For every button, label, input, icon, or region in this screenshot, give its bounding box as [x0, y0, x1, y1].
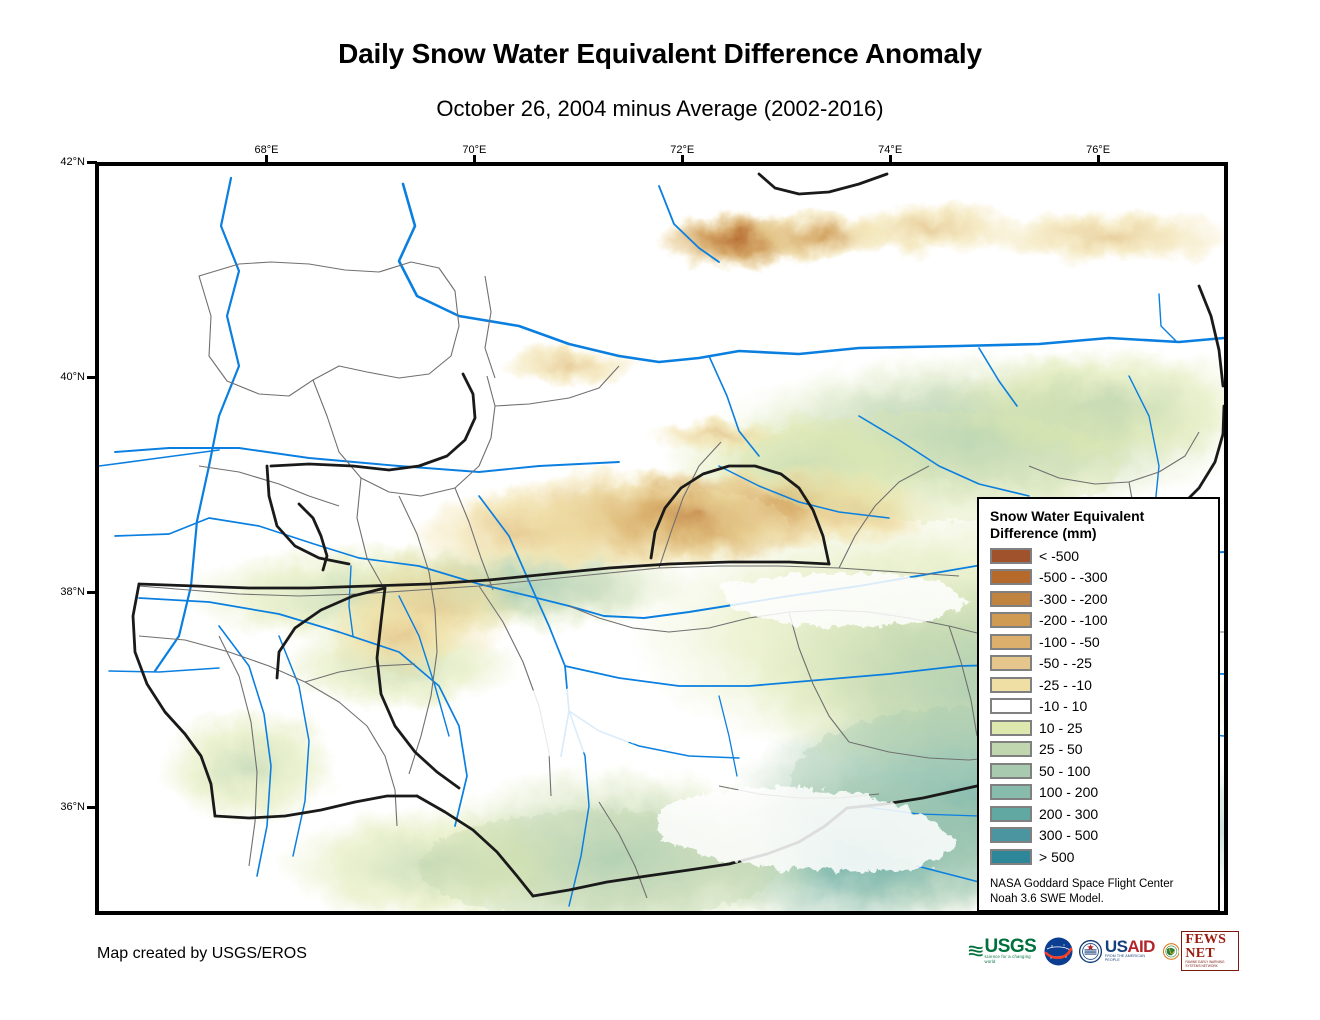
fews-globe-icon	[1163, 939, 1180, 964]
legend-swatch	[990, 720, 1032, 736]
usaid-logo: USAID FROM THE AMERICAN PEOPLE	[1079, 936, 1157, 966]
logo-strip: USGS science for a changing world	[968, 934, 1226, 968]
legend-label: 100 - 200	[1039, 785, 1098, 799]
legend-label: < -500	[1039, 549, 1079, 563]
legend-item: -200 - -100	[990, 610, 1208, 632]
usaid-logo-tagline: FROM THE AMERICAN PEOPLE	[1105, 955, 1157, 962]
legend-swatch	[990, 548, 1032, 564]
usaid-seal-icon	[1079, 939, 1102, 964]
legend-swatch	[990, 698, 1032, 714]
latitude-tick-label: 42°N	[51, 156, 85, 168]
legend-item: -10 - 10	[990, 696, 1208, 718]
legend-label: 50 - 100	[1039, 764, 1090, 778]
fews-net-logo-text: FEWS NET	[1185, 933, 1234, 961]
legend-swatch	[990, 741, 1032, 757]
legend-panel: Snow Water Equivalent Difference (mm) < …	[977, 497, 1220, 912]
legend-item: -50 - -25	[990, 653, 1208, 675]
legend-label: -300 - -200	[1039, 592, 1107, 606]
legend-item: 100 - 200	[990, 782, 1208, 804]
legend-item: -500 - -300	[990, 567, 1208, 589]
legend-source-line1: NASA Goddard Space Flight Center	[990, 877, 1208, 893]
legend-source-line2: Noah 3.6 SWE Model.	[990, 892, 1208, 908]
fews-net-logo-tagline: FAMINE EARLY WARNING SYSTEMS NETWORK	[1185, 961, 1234, 968]
legend-label: 200 - 300	[1039, 807, 1098, 821]
page-title: Daily Snow Water Equivalent Difference A…	[0, 38, 1320, 70]
legend-source: NASA Goddard Space Flight Center Noah 3.…	[990, 877, 1208, 908]
nasa-logo	[1044, 936, 1073, 966]
legend-swatch	[990, 784, 1032, 800]
legend-swatch	[990, 849, 1032, 865]
legend-swatch	[990, 612, 1032, 628]
legend-label: 10 - 25	[1039, 721, 1083, 735]
nasa-meatball-icon	[1044, 937, 1073, 966]
legend-label: -25 - -10	[1039, 678, 1092, 692]
legend-label: 300 - 500	[1039, 828, 1098, 842]
legend-swatch	[990, 634, 1032, 650]
usgs-logo-text: USGS	[984, 938, 1037, 955]
page-subtitle: October 26, 2004 minus Average (2002-201…	[0, 96, 1320, 122]
usgs-logo-tagline: science for a changing world	[984, 955, 1037, 963]
legend-swatch	[990, 591, 1032, 607]
legend-swatch	[990, 806, 1032, 822]
legend-item: > 500	[990, 846, 1208, 868]
legend-label: -50 - -25	[1039, 656, 1092, 670]
usgs-logo: USGS science for a changing world	[968, 936, 1038, 966]
usaid-logo-text: USAID	[1105, 939, 1157, 955]
legend-item: 50 - 100	[990, 760, 1208, 782]
legend-title-line1: Snow Water Equivalent	[990, 508, 1208, 525]
latitude-tick-label: 40°N	[51, 371, 85, 383]
legend-swatch	[990, 569, 1032, 585]
legend-item: 200 - 300	[990, 803, 1208, 825]
legend-swatch	[990, 827, 1032, 843]
latitude-tick-label: 36°N	[51, 801, 85, 813]
legend-item: 300 - 500	[990, 825, 1208, 847]
legend-items: < -500-500 - -300-300 - -200-200 - -100-…	[990, 545, 1208, 868]
legend-label: -100 - -50	[1039, 635, 1100, 649]
latitude-tick-label: 38°N	[51, 586, 85, 598]
legend-swatch	[990, 763, 1032, 779]
legend-title-line2: Difference (mm)	[990, 525, 1208, 542]
map-page: Daily Snow Water Equivalent Difference A…	[0, 0, 1320, 1020]
legend-item: < -500	[990, 545, 1208, 567]
legend-swatch	[990, 655, 1032, 671]
legend-item: -25 - -10	[990, 674, 1208, 696]
legend-item: -300 - -200	[990, 588, 1208, 610]
legend-label: -500 - -300	[1039, 570, 1107, 584]
legend-swatch	[990, 677, 1032, 693]
legend-item: -100 - -50	[990, 631, 1208, 653]
legend-label: -10 - 10	[1039, 699, 1087, 713]
fews-net-logo: FEWS NET FAMINE EARLY WARNING SYSTEMS NE…	[1163, 936, 1239, 966]
map-credit: Map created by USGS/EROS	[97, 945, 307, 963]
legend-title: Snow Water Equivalent Difference (mm)	[990, 508, 1208, 541]
legend-item: 10 - 25	[990, 717, 1208, 739]
usgs-wave-icon	[968, 942, 983, 960]
legend-label: 25 - 50	[1039, 742, 1083, 756]
legend-item: 25 - 50	[990, 739, 1208, 761]
legend-label: > 500	[1039, 850, 1074, 864]
legend-label: -200 - -100	[1039, 613, 1107, 627]
